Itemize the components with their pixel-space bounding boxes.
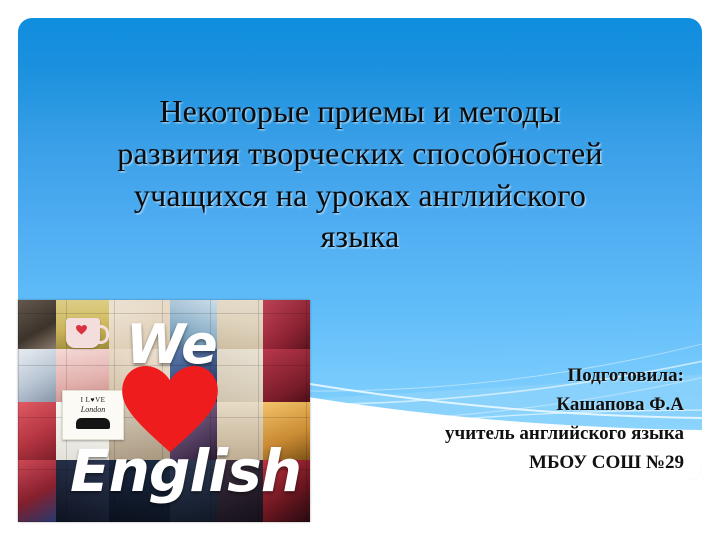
collage-tile xyxy=(217,300,264,349)
small-heart-icon xyxy=(76,325,87,335)
presenter-school: МБОУ СОШ №29 xyxy=(264,449,684,478)
presenter-role: учитель английского языка xyxy=(264,420,684,449)
collage-word-we: We xyxy=(126,318,217,372)
collage-tile xyxy=(18,349,56,402)
london-card-line2: London xyxy=(63,405,123,414)
collage-word-english: English xyxy=(70,442,301,500)
london-card-line1: I L♥VE xyxy=(63,396,123,404)
collage-tile xyxy=(263,300,310,349)
collage-tile xyxy=(18,300,56,349)
presentation-slide: Некоторые приемы и методы развития творч… xyxy=(0,0,720,540)
presenter-info: Подготовила: Кашапова Ф.А учитель англий… xyxy=(264,362,684,478)
collage-tile xyxy=(18,402,56,460)
collage-tile xyxy=(263,349,310,402)
london-card: I L♥VE London xyxy=(62,390,124,440)
collage-tile xyxy=(217,349,264,402)
we-love-english-image: I L♥VE London We English xyxy=(18,300,310,522)
collage-tile xyxy=(18,460,56,522)
slide-title: Некоторые приемы и методы развития творч… xyxy=(40,91,680,257)
presenter-label: Подготовила: xyxy=(264,362,684,391)
taxi-icon xyxy=(76,418,110,429)
presenter-name: Кашапова Ф.А xyxy=(264,391,684,420)
